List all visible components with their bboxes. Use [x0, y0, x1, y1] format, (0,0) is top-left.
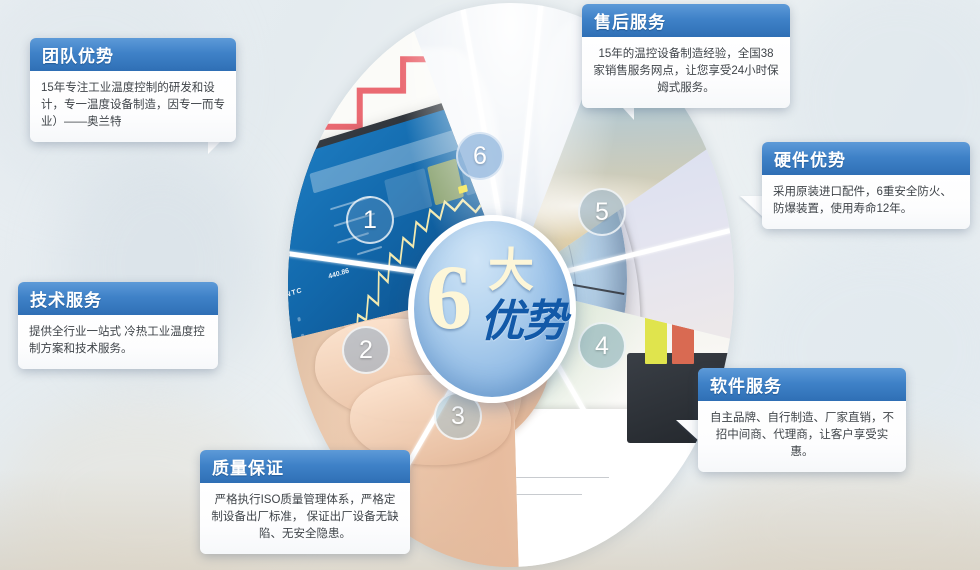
logo-number: 6	[426, 251, 472, 343]
badge-number: 4	[595, 332, 609, 361]
callout-quality[interactable]: 质量保证 严格执行ISO质量管理体系，严格定制设备出厂标准， 保证出厂设备无缺陷…	[200, 450, 410, 554]
callout-tech[interactable]: 技术服务 提供全行业一站式 冷热工业温度控制方案和技术服务。	[18, 282, 218, 369]
callout-body: 采用原装进口配件，6重安全防火、防爆装置，使用寿命12年。	[762, 175, 970, 229]
callout-hardware[interactable]: 硬件优势 采用原装进口配件，6重安全防火、防爆装置，使用寿命12年。	[762, 142, 970, 229]
callout-body: 15年专注工业温度控制的研发和设计，专一温度设备制造，因专一而专业）——奥兰特	[30, 71, 236, 142]
logo-word: 优势	[480, 299, 566, 345]
logo-unit: 大	[488, 247, 534, 293]
callout-tail-software	[676, 420, 700, 442]
callout-title: 质量保证	[200, 450, 410, 483]
segment-badge-5[interactable]: 5	[578, 188, 626, 236]
segment-badge-4[interactable]: 4	[578, 322, 626, 370]
segment-badge-6[interactable]: 6	[456, 132, 504, 180]
callout-software[interactable]: 软件服务 自主品牌、自行制造、厂家直销，不招中间商、代理商，让客户享受实惠。	[698, 368, 906, 472]
callout-body: 自主品牌、自行制造、厂家直销，不招中间商、代理商，让客户享受实惠。	[698, 401, 906, 472]
callout-body: 提供全行业一站式 冷热工业温度控制方案和技术服务。	[18, 315, 218, 369]
callout-tail-hardware	[740, 196, 764, 218]
infographic-canvas: INTC 440.86	[0, 0, 980, 570]
callout-team[interactable]: 团队优势 15年专注工业温度控制的研发和设计，专一温度设备制造，因专一而专业）—…	[30, 38, 236, 142]
callout-title: 软件服务	[698, 368, 906, 401]
callout-title: 售后服务	[582, 4, 790, 37]
segment-badge-1[interactable]: 1	[346, 196, 394, 244]
badge-number: 1	[363, 206, 377, 235]
callout-body: 15年的温控设备制造经验，全国38家销售服务网点，让您享受24小时保姆式服务。	[582, 37, 790, 108]
callout-title: 团队优势	[30, 38, 236, 71]
segment-badge-2[interactable]: 2	[342, 326, 390, 374]
badge-number: 5	[595, 198, 609, 227]
callout-title: 硬件优势	[762, 142, 970, 175]
callout-title: 技术服务	[18, 282, 218, 315]
callout-after-sales[interactable]: 售后服务 15年的温控设备制造经验，全国38家销售服务网点，让您享受24小时保姆…	[582, 4, 790, 108]
badge-number: 3	[451, 402, 465, 431]
callout-body: 严格执行ISO质量管理体系，严格定制设备出厂标准， 保证出厂设备无缺陷、无安全隐…	[200, 483, 410, 554]
badge-number: 6	[473, 142, 487, 171]
badge-number: 2	[359, 336, 373, 365]
center-logo: 6 大 优势	[408, 215, 576, 403]
tablet-brand-label: INTC	[288, 287, 304, 300]
